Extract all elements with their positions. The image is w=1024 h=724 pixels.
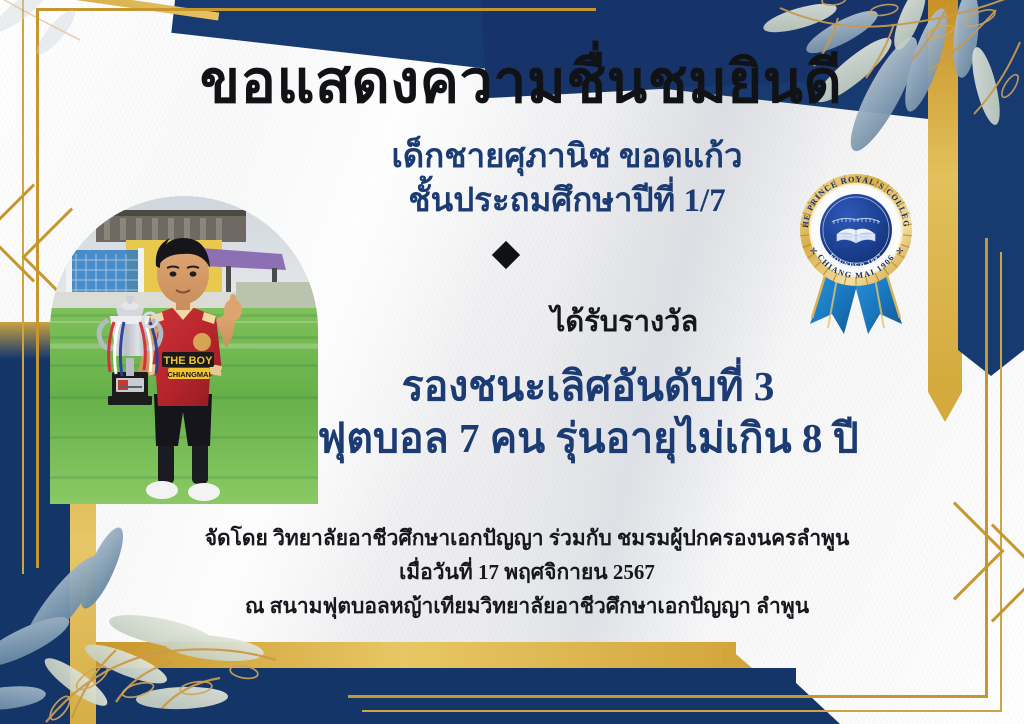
award-category: ฟุตบอล 7 คน รุ่นอายุไม่เกิน 8 ปี xyxy=(236,412,940,464)
footer-date: เมื่อวันที่ 17 พฤศจิกายน 2567 xyxy=(110,555,944,589)
award-rank: รองชนะเลิศอันดับที่ 3 xyxy=(236,360,940,412)
diamond-divider xyxy=(338,240,678,270)
footer-venue: ณ สนามฟุตบอลหญ้าเทียมวิทยาลัยอาชีวศึกษาเ… xyxy=(110,589,944,623)
award-label: ได้รับรางวัล xyxy=(330,298,919,344)
certificate-footer: จัดโดย วิทยาลัยอาชีวศึกษาเอกปัญญา ร่วมกั… xyxy=(110,521,944,623)
certificate-page: THE BOY CHIANGMAI xyxy=(0,0,1024,724)
recipient-block: เด็กชายศุภานิช ขอดแก้ว ชั้นประถมศึกษาปีท… xyxy=(230,136,904,223)
recipient-class: ชั้นประถมศึกษาปีที่ 1/7 xyxy=(230,180,904,224)
award-details: รองชนะเลิศอันดับที่ 3 ฟุตบอล 7 คน รุ่นอา… xyxy=(236,360,940,465)
diamond-divider-graphic xyxy=(338,240,678,270)
certificate-content: ขอแสดงความชื่นชมยินดี เด็กชายศุภานิช ขอด… xyxy=(0,0,1024,724)
footer-organizer: จัดโดย วิทยาลัยอาชีวศึกษาเอกปัญญา ร่วมกั… xyxy=(110,521,944,555)
certificate-title: ขอแสดงความชื่นชมยินดี xyxy=(0,52,1024,114)
recipient-name: เด็กชายศุภานิช ขอดแก้ว xyxy=(230,136,904,180)
